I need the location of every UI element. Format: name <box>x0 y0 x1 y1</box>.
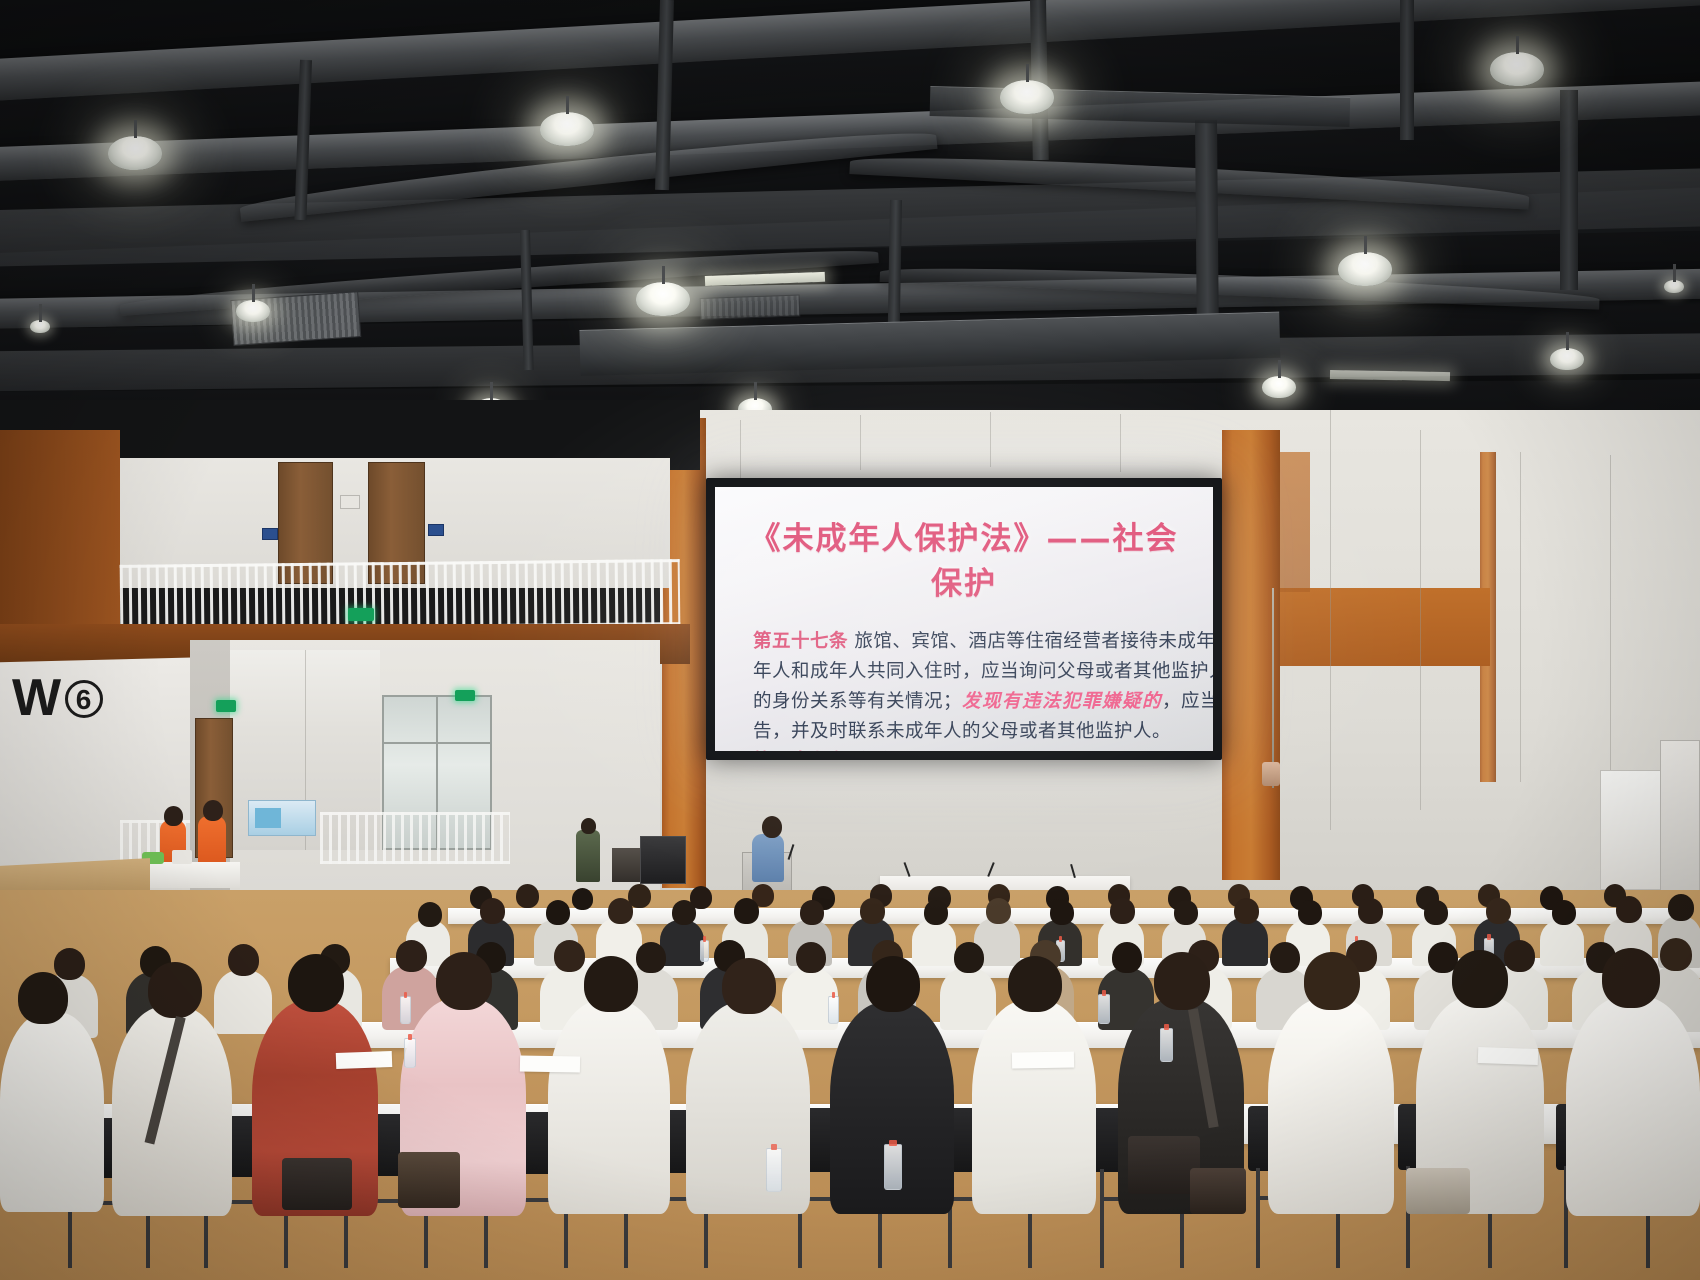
water-bottle <box>828 996 839 1024</box>
ceiling-lamp <box>1490 52 1544 86</box>
water-bottle <box>700 940 709 962</box>
slide-line: 年人和成年人共同入住时，应当询问父母或者其他监护人的联系方式、入住人员 <box>753 657 1175 687</box>
camera-operator <box>576 830 600 882</box>
ceiling-lamp <box>636 282 690 316</box>
audience-head <box>1174 900 1198 925</box>
audience-head <box>288 954 344 1012</box>
poster-graphic <box>255 808 281 828</box>
audience-head <box>860 898 885 924</box>
audience-head <box>228 944 259 976</box>
cord-handle <box>1262 762 1280 786</box>
audience-person-foreground <box>972 1000 1096 1214</box>
wall-wood-band <box>1280 588 1490 666</box>
audience-head <box>722 958 776 1014</box>
slide-line: 的身份关系等有关情况；发现有违法犯罪嫌疑的，应当立即向公安机关报 <box>753 687 1175 717</box>
audience-head <box>1112 942 1142 973</box>
ceiling-lamp <box>1664 280 1684 293</box>
audience-head <box>1358 898 1383 924</box>
door-sign <box>262 528 278 540</box>
handbag <box>1190 1168 1246 1214</box>
hanging-cord <box>1272 588 1274 788</box>
audience-head <box>554 940 585 972</box>
audience-head <box>1504 940 1535 972</box>
operator-head <box>581 818 596 834</box>
audience-head <box>672 900 696 925</box>
audience-head <box>18 972 68 1024</box>
audience-head <box>734 898 759 924</box>
audience-head <box>1154 952 1210 1010</box>
audience-head <box>986 898 1011 924</box>
ceiling-lamp <box>1338 252 1392 286</box>
audience-head <box>1008 956 1062 1012</box>
audience-head <box>1050 900 1074 925</box>
staff-head <box>203 800 223 821</box>
audience-person <box>660 920 704 966</box>
audience-person-foreground <box>1268 998 1394 1214</box>
slide-line-text: 的身份关系等有关情况； <box>753 691 962 712</box>
ceiling-lamp <box>108 136 162 170</box>
slide-highlight: 发现有违法犯罪嫌疑的 <box>962 691 1162 712</box>
audience-head <box>1304 952 1360 1010</box>
slide-article-number: 第五十七条 <box>753 631 848 652</box>
handbag <box>398 1152 460 1208</box>
slide-body: 第五十七条 旅馆、宾馆、酒店等住宿经营者接待未成年人入住，或者接待未成 年人和成… <box>749 627 1179 751</box>
audience-head <box>866 956 920 1012</box>
audience-head <box>800 900 824 925</box>
slide-title: 《未成年人保护法》——社会保护 <box>749 513 1179 603</box>
exit-sign <box>348 608 374 621</box>
handout-paper <box>520 1055 580 1072</box>
audience-person <box>940 968 996 1030</box>
exit-sign <box>455 690 475 701</box>
audience-person <box>214 970 272 1034</box>
slide-line-text: 旅馆、宾馆、酒店等住宿经营者接待未成年人入住，或者接待未成 <box>854 631 1213 652</box>
handbag <box>1406 1168 1470 1214</box>
audience-head <box>1424 900 1448 925</box>
projection-screen-frame: 《未成年人保护法》——社会保护 第五十七条 旅馆、宾馆、酒店等住宿经营者接待未成… <box>706 478 1222 760</box>
lobby-barrier <box>320 812 510 864</box>
water-bottle <box>884 1144 902 1190</box>
av-equipment-cart <box>640 836 686 884</box>
audience-person-foreground <box>1566 996 1700 1216</box>
auditorium-photo: W6 《未成年人保护法》——社会保护 第五十七条 旅馆 <box>0 0 1700 1280</box>
audience-person <box>1222 918 1268 966</box>
audience-head <box>1234 898 1259 924</box>
audience-head <box>1616 896 1642 923</box>
audience-person-foreground <box>686 1002 810 1214</box>
audience-head <box>396 940 427 972</box>
ceiling-lamp <box>1550 348 1584 370</box>
audience-head <box>572 888 593 910</box>
balcony-pillar <box>0 430 120 630</box>
ceiling-lamp <box>1000 80 1054 114</box>
handout-paper <box>336 1051 393 1069</box>
balcony-railing <box>120 559 681 631</box>
handout-paper <box>1478 1047 1539 1065</box>
audience-head <box>418 902 442 927</box>
audience-head <box>608 898 633 924</box>
wall-sign-number: 6 <box>65 680 103 718</box>
audience-head <box>584 956 638 1012</box>
wall-sign-letter: W <box>12 669 62 727</box>
audience-head <box>480 898 505 924</box>
audience-head <box>1452 950 1508 1008</box>
handout-paper <box>1012 1051 1074 1068</box>
audience-head <box>148 962 202 1018</box>
audience-head <box>54 948 85 980</box>
water-bottle <box>400 996 411 1024</box>
speaker-head <box>762 816 782 838</box>
audience-head <box>1668 894 1694 921</box>
av-case <box>612 848 640 882</box>
speaker-body <box>752 834 784 882</box>
audience-head <box>636 942 666 973</box>
ceiling-lamp <box>236 300 270 322</box>
ceiling-lamp <box>540 112 594 146</box>
water-bottle <box>404 1038 416 1068</box>
water-bottle <box>1098 994 1110 1024</box>
audience-person <box>912 920 956 966</box>
audience-head <box>1110 898 1135 924</box>
wall-wood-band <box>1280 452 1310 592</box>
lobby-item <box>172 850 192 864</box>
audience-person-foreground <box>0 1012 104 1212</box>
water-bottle <box>1160 1028 1173 1062</box>
audience-head <box>1660 938 1692 971</box>
wall-notice <box>340 495 360 509</box>
equipment-panel <box>1660 740 1700 900</box>
staff-head <box>164 806 183 826</box>
ceiling-lamp <box>30 320 50 333</box>
audience-head <box>516 884 539 908</box>
projection-screen: 《未成年人保护法》——社会保护 第五十七条 旅馆、宾馆、酒店等住宿经营者接待未成… <box>715 487 1213 751</box>
water-bottle <box>766 1148 782 1192</box>
audience-head <box>1298 900 1322 925</box>
wall-sign-w6: W6 <box>12 672 103 724</box>
audience-person-foreground <box>548 1000 670 1214</box>
exit-sign <box>216 700 236 712</box>
ceiling-lamp <box>1262 376 1296 398</box>
audience-head <box>954 942 984 973</box>
door-sign <box>428 524 444 536</box>
audience-head <box>546 900 570 925</box>
handbag <box>282 1158 352 1210</box>
audience-head <box>1602 948 1660 1008</box>
slide-line: 第五十九条 学校、幼儿园周边不得设置烟、酒、彩票销售网点。禁止向未成年 <box>753 747 1175 751</box>
audience-head <box>1552 900 1576 925</box>
slide-line-text: 年人和成年人共同入住时，应当询问父母或者其他监护人的联系方式、入住人员 <box>753 661 1213 682</box>
audience-person <box>1540 920 1584 966</box>
audience-head <box>1486 898 1511 924</box>
slide-line-text: 告，并及时联系未成年人的父母或者其他监护人。 <box>753 721 1171 742</box>
slide-line-tail: ，应当立即向公安机关报 <box>1162 691 1213 712</box>
slide-line: 告，并及时联系未成年人的父母或者其他监护人。 <box>753 717 1175 747</box>
audience-head <box>436 952 492 1010</box>
ceiling-vent <box>700 295 801 320</box>
slide-line: 第五十七条 旅馆、宾馆、酒店等住宿经营者接待未成年人入住，或者接待未成 <box>753 627 1175 657</box>
audience-head <box>1270 942 1300 973</box>
audience-head <box>924 900 948 925</box>
audience-head <box>796 942 826 973</box>
